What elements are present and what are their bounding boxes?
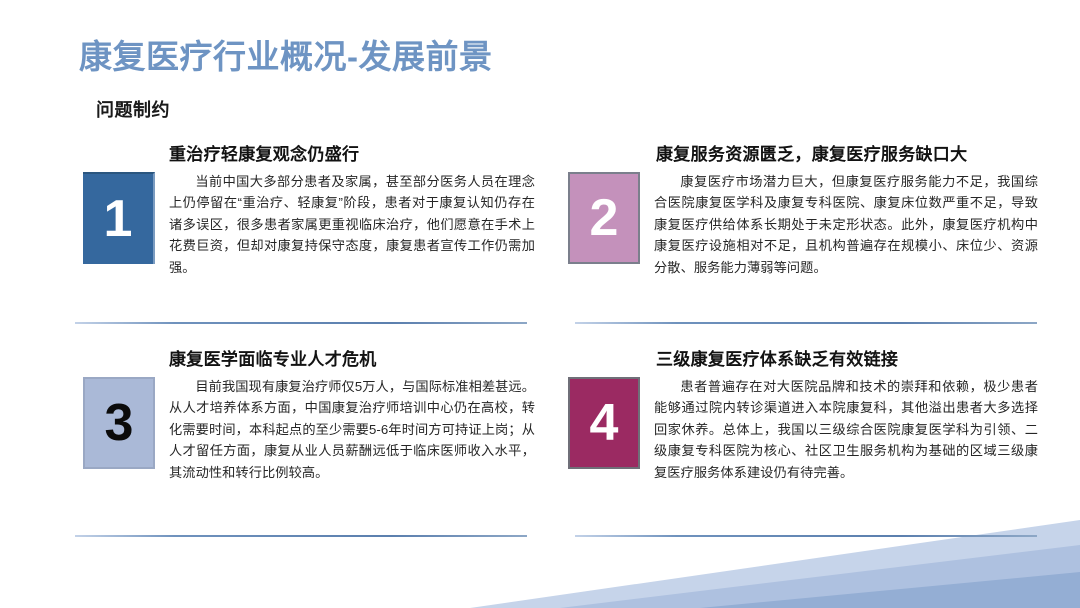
issue-text-1: 当前中国大多部分患者及家属，甚至部分医务人员在理念上仍停留在“重治疗、轻康复”阶… [169,171,535,278]
issue-number-badge-1: 1 [83,172,155,264]
issue-body-1: 重治疗轻康复观念仍盛行 当前中国大多部分患者及家属，甚至部分医务人员在理念上仍停… [155,140,535,278]
issue-text-4: 患者普遍存在对大医院品牌和技术的崇拜和依赖，极少患者能够通过院内转诊渠道进入本院… [654,376,1038,483]
issue-number-badge-4: 4 [568,377,640,469]
issue-number-badge-3: 3 [83,377,155,469]
issue-body-4: 三级康复医疗体系缺乏有效链接 患者普遍存在对大医院品牌和技术的崇拜和依赖，极少患… [640,345,1038,483]
slide-canvas: 康复医疗行业概况-发展前景 问题制约 1 重治疗轻康复观念仍盛行 当前中国大多部… [0,0,1080,608]
issue-heading-4: 三级康复医疗体系缺乏有效链接 [656,345,1038,370]
issue-text-3: 目前我国现有康复治疗师仅5万人，与国际标准相差甚远。从人才培养体系方面，中国康复… [169,376,535,483]
issue-card-3: 3 康复医学面临专业人才危机 目前我国现有康复治疗师仅5万人，与国际标准相差甚远… [83,345,535,483]
corner-decoration [0,0,1080,608]
page-title: 康复医疗行业概况-发展前景 [79,30,493,78]
issue-heading-1: 重治疗轻康复观念仍盛行 [169,140,535,165]
issue-number-badge-2: 2 [568,172,640,264]
issue-body-3: 康复医学面临专业人才危机 目前我国现有康复治疗师仅5万人，与国际标准相差甚远。从… [155,345,535,483]
issue-card-1: 1 重治疗轻康复观念仍盛行 当前中国大多部分患者及家属，甚至部分医务人员在理念上… [83,140,535,278]
issue-heading-3: 康复医学面临专业人才危机 [169,345,535,370]
issue-heading-2: 康复服务资源匮乏，康复医疗服务缺口大 [656,140,1038,165]
divider-right-top [575,322,1037,324]
section-subtitle: 问题制约 [96,96,170,122]
issue-body-2: 康复服务资源匮乏，康复医疗服务缺口大 康复医疗市场潜力巨大，但康复医疗服务能力不… [640,140,1038,278]
divider-right-bottom [575,535,1037,537]
divider-left-bottom [75,535,527,537]
issue-card-4: 4 三级康复医疗体系缺乏有效链接 患者普遍存在对大医院品牌和技术的崇拜和依赖，极… [568,345,1038,483]
divider-left-top [75,322,527,324]
issue-card-2: 2 康复服务资源匮乏，康复医疗服务缺口大 康复医疗市场潜力巨大，但康复医疗服务能… [568,140,1038,278]
issue-text-2: 康复医疗市场潜力巨大，但康复医疗服务能力不足，我国综合医院康复医学科及康复专科医… [654,171,1038,278]
